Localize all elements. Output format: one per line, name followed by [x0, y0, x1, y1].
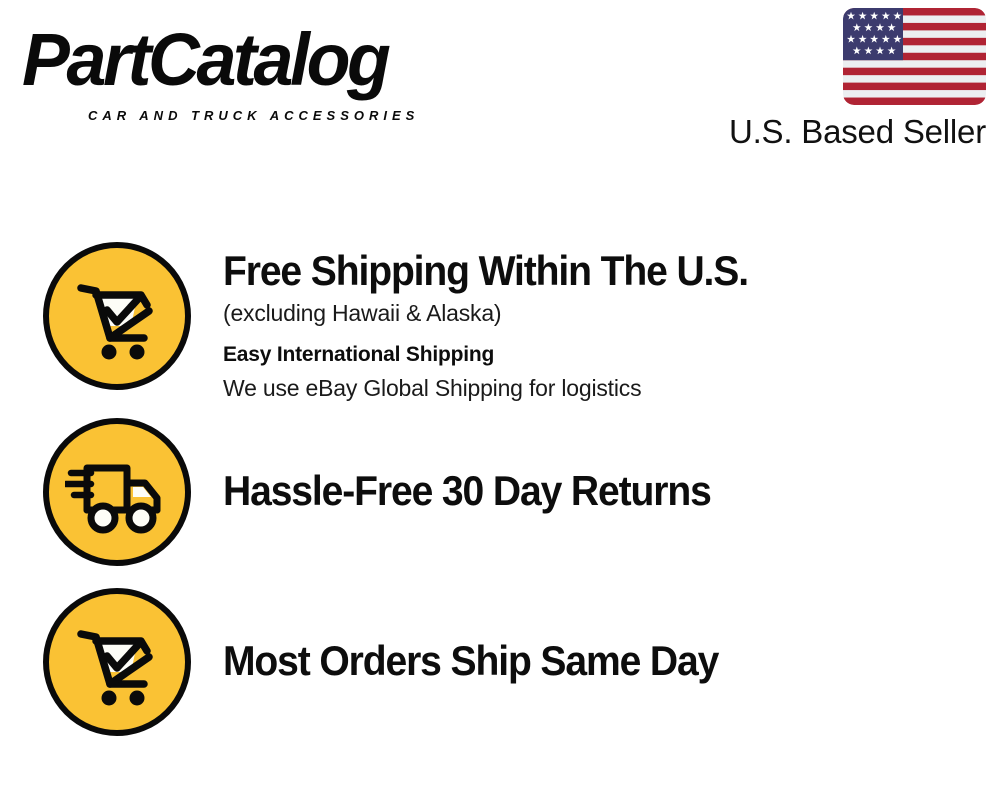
page-header: PartCatalog CAR AND TRUCK ACCESSORIES [0, 0, 1000, 170]
feature-text-block: Most Orders Ship Same Day [191, 588, 1000, 686]
feature-sub-detail: We use eBay Global Shipping for logistic… [223, 372, 1000, 405]
feature-title: Hassle-Free 30 Day Returns [223, 466, 946, 516]
brand-logo[interactable]: PartCatalog CAR AND TRUCK ACCESSORIES [22, 20, 492, 120]
delivery-truck-icon [43, 418, 191, 566]
feature-text-block: Hassle-Free 30 Day Returns [191, 418, 1000, 516]
feature-sub-heading: Easy International Shipping [223, 338, 1000, 372]
shopping-cart-check-icon [43, 242, 191, 390]
feature-subtitle: (excluding Hawaii & Alaska) [223, 296, 1000, 330]
feature-title: Free Shipping Within The U.S. [223, 246, 946, 296]
feature-row: Free Shipping Within The U.S. (excluding… [0, 242, 1000, 412]
feature-title: Most Orders Ship Same Day [223, 636, 946, 686]
us-based-seller-label: U.S. Based Seller [711, 113, 986, 151]
brand-tagline: CAR AND TRUCK ACCESSORIES [88, 108, 419, 123]
shopping-cart-check-icon [43, 588, 191, 736]
us-based-seller-badge: U.S. Based Seller [711, 8, 986, 151]
feature-row: Most Orders Ship Same Day [0, 588, 1000, 758]
us-flag-icon [843, 8, 986, 105]
feature-row: Hassle-Free 30 Day Returns [0, 418, 1000, 588]
feature-text-block: Free Shipping Within The U.S. (excluding… [191, 242, 1000, 405]
brand-wordmark: PartCatalog [22, 20, 388, 100]
